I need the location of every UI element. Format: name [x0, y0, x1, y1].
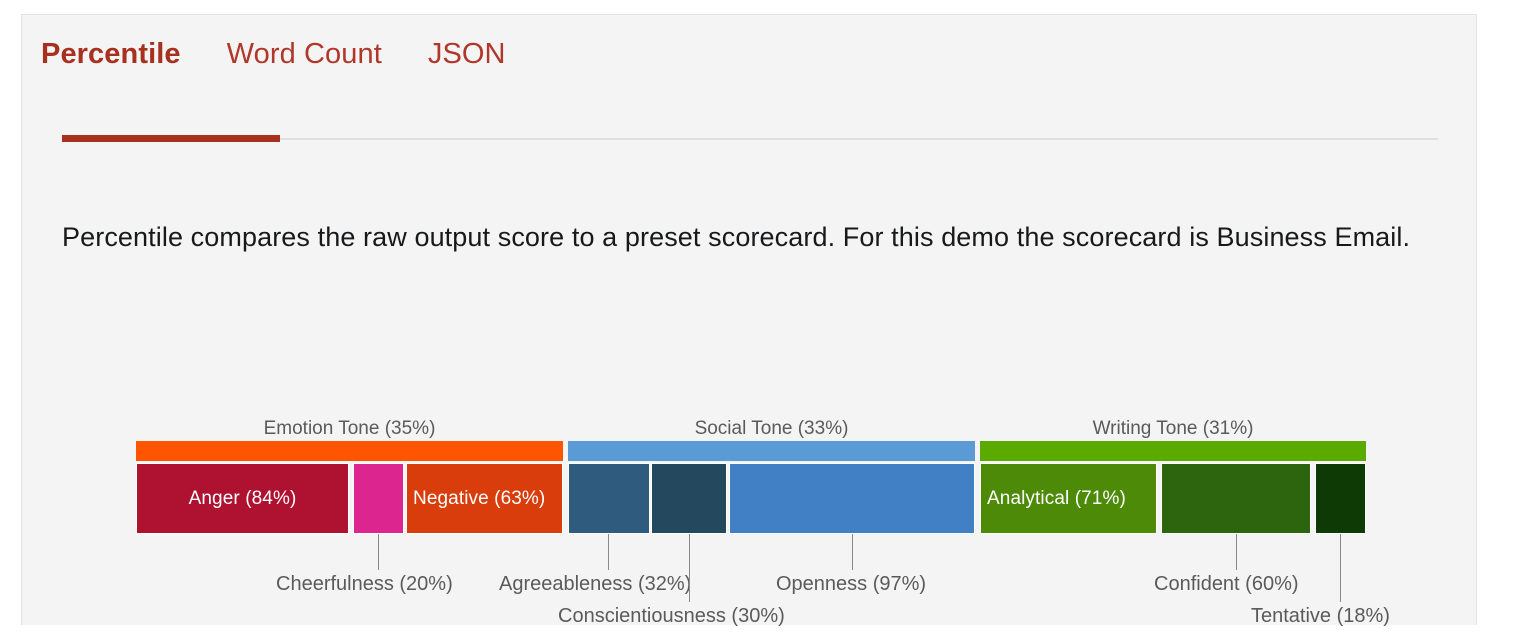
group-label-emotion-tone: Emotion Tone (35%): [136, 418, 563, 440]
leader-line-confident: [1236, 534, 1237, 570]
active-tab-underline: [62, 135, 280, 142]
trait-segment-cheerfulness[interactable]: [353, 463, 404, 534]
leader-line-agreeableness: [608, 534, 609, 570]
callout-label-agreeableness: Agreeableness (32%): [499, 572, 691, 596]
percentile-chart: Emotion Tone (35%)Social Tone (33%)Writi…: [136, 418, 1366, 608]
trait-segment-conscientiousness[interactable]: [651, 463, 727, 534]
leader-line-openness: [852, 534, 853, 570]
group-label-row: Emotion Tone (35%)Social Tone (33%)Writi…: [136, 418, 1366, 440]
group-label-writing-tone: Writing Tone (31%): [980, 418, 1366, 440]
leader-line-tentative: [1340, 534, 1341, 602]
callout-label-tentative: Tentative (18%): [1251, 604, 1390, 628]
tab-bar: PercentileWord CountJSON: [41, 40, 1417, 150]
tab-word-count[interactable]: Word Count: [227, 40, 382, 69]
tab-list: PercentileWord CountJSON: [41, 40, 552, 69]
group-bar-emotion-tone[interactable]: [136, 441, 563, 461]
callout-label-confident: Confident (60%): [1154, 572, 1299, 596]
tab-json[interactable]: JSON: [428, 40, 506, 69]
trait-segment-negative[interactable]: Negative (63%): [406, 463, 563, 534]
trait-segment-label: Analytical (71%): [981, 488, 1126, 510]
group-bar-row: [136, 441, 1366, 461]
trait-segment-tentative[interactable]: [1315, 463, 1366, 534]
leader-line-cheerfulness: [378, 534, 379, 570]
group-label-social-tone: Social Tone (33%): [568, 418, 975, 440]
callout-label-cheerfulness: Cheerfulness (20%): [276, 572, 453, 596]
leader-line-conscientiousness: [689, 534, 690, 602]
trait-segment-agreeableness[interactable]: [568, 463, 650, 534]
callout-label-openness: Openness (97%): [776, 572, 926, 596]
trait-segment-analytical[interactable]: Analytical (71%): [980, 463, 1157, 534]
trait-segment-label: Anger (84%): [137, 488, 348, 510]
tab-percentile[interactable]: Percentile: [41, 40, 181, 69]
trait-segment-confident[interactable]: [1161, 463, 1311, 534]
trait-segment-label: Negative (63%): [407, 488, 545, 510]
app-root: PercentileWord CountJSON Percentile comp…: [0, 0, 1520, 640]
callout-layer: Cheerfulness (20%)Agreeableness (32%)Con…: [136, 534, 1366, 614]
trait-segment-anger[interactable]: Anger (84%): [136, 463, 349, 534]
group-bar-writing-tone[interactable]: [980, 441, 1366, 461]
description-text: Percentile compares the raw output score…: [62, 215, 1432, 259]
group-bar-social-tone[interactable]: [568, 441, 975, 461]
trait-bar-row: Anger (84%)Negative (63%)Analytical (71%…: [136, 463, 1366, 534]
callout-label-conscientiousness: Conscientiousness (30%): [558, 604, 785, 628]
trait-segment-openness[interactable]: [729, 463, 975, 534]
